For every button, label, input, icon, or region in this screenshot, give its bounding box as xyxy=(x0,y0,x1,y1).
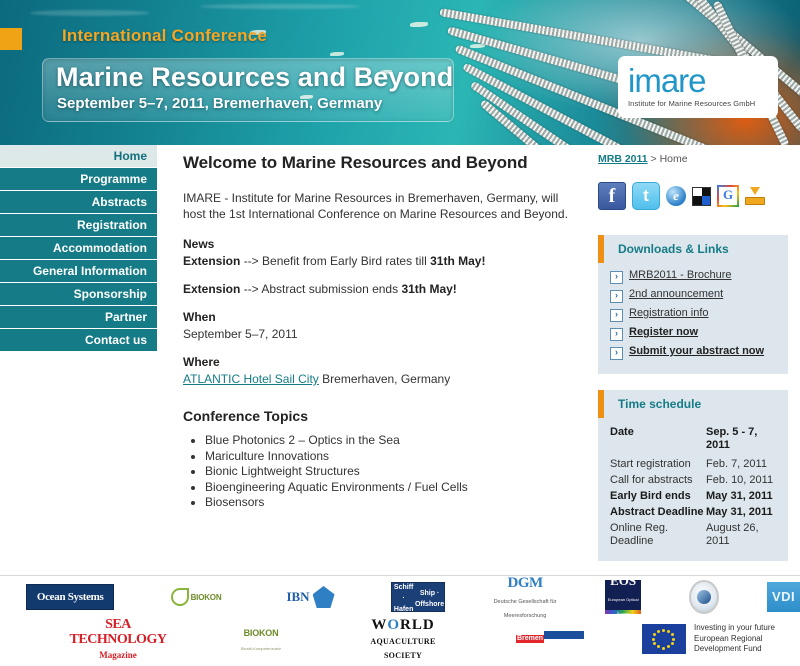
eu-erdf-text: Investing in your future European Region… xyxy=(694,623,775,655)
topic-item: Blue Photonics 2 – Optics in the Sea xyxy=(205,433,575,449)
download-link-label[interactable]: MRB2011 - Brochure xyxy=(629,269,732,282)
fish-shape xyxy=(330,52,344,56)
was-line2: AQUACULTURE xyxy=(370,637,435,646)
chevron-right-icon: › xyxy=(610,309,623,322)
was-line3: SOCIETY xyxy=(384,651,422,660)
downloads-panel: Downloads & Links ›MRB2011 - Brochure›2n… xyxy=(598,235,788,374)
schedule-row-label: Abstract Deadline xyxy=(610,506,706,519)
eu-star xyxy=(671,633,674,636)
download-link-item[interactable]: ›MRB2011 - Brochure xyxy=(610,269,778,284)
eu-star xyxy=(667,645,670,648)
sponsor-footer: Ocean Systems BIOKON IBN Schiff · Hafen … xyxy=(0,575,800,666)
imare-logo-tagline: Institute for Marine Resources GmbH xyxy=(628,99,778,108)
time-schedule-title: Time schedule xyxy=(598,390,788,418)
topics-heading: Conference Topics xyxy=(183,408,575,424)
schedule-row: Start registrationFeb. 7, 2011 xyxy=(610,458,778,471)
spacer xyxy=(183,298,575,309)
bremen-text: Bremen xyxy=(516,635,544,643)
was-rld: RLD xyxy=(400,617,435,633)
eu-erdf-logo[interactable]: Investing in your future European Region… xyxy=(642,623,775,655)
eu-line2: European Regional xyxy=(694,634,763,643)
banner-accent-square xyxy=(0,28,22,50)
where-label: Where xyxy=(183,354,575,371)
venue-link[interactable]: ATLANTIC Hotel Sail City xyxy=(183,372,319,386)
download-link-label[interactable]: Submit your abstract now xyxy=(629,345,764,358)
sidebar-item-contact-us[interactable]: Contact us xyxy=(0,329,157,352)
eu-star xyxy=(652,638,655,641)
eu-star xyxy=(653,633,656,636)
schedule-row-value: May 31, 2011 xyxy=(706,506,778,519)
spacer xyxy=(183,270,575,281)
ocean-systems-logo[interactable]: Ocean Systems xyxy=(26,584,114,610)
sponsor-row-2: SEA TECHNOLOGY Magazine BIOKON Bionik-Ko… xyxy=(0,618,800,660)
sidebar-item-home[interactable]: Home xyxy=(0,145,157,168)
news-2-bold: Extension xyxy=(183,282,240,296)
was-o: O xyxy=(387,617,400,633)
news-2-mid: --> Abstract submission ends xyxy=(240,282,401,296)
eu-star xyxy=(662,629,665,632)
header-banner: International Conference Marine Resource… xyxy=(0,0,800,145)
download-link-item[interactable]: ›2nd announcement xyxy=(610,288,778,303)
vdi-logo[interactable]: VDI xyxy=(767,582,800,612)
biokon-international-logo[interactable]: BIOKON xyxy=(162,587,229,607)
sidebar-navigation: HomeProgrammeAbstractsRegistrationAccomm… xyxy=(0,145,157,352)
schedule-row-label: Call for abstracts xyxy=(610,474,706,487)
schedule-row-label: Start registration xyxy=(610,458,706,471)
download-icon[interactable] xyxy=(745,187,765,205)
seal-logo[interactable] xyxy=(689,580,719,614)
bremen-logo[interactable]: Bremen Bremerhaven xyxy=(516,624,584,654)
light-streak xyxy=(200,4,360,9)
was-line1: WORLD xyxy=(371,617,434,633)
spacer xyxy=(183,343,575,354)
download-link-label[interactable]: Register now xyxy=(629,326,698,339)
light-streak xyxy=(30,10,150,16)
time-schedule-table: DateSep. 5 - 7, 2011Start registrationFe… xyxy=(598,418,788,548)
when-label: When xyxy=(183,309,575,326)
ibn-text: IBN xyxy=(286,589,309,605)
where-rest: Bremerhaven, Germany xyxy=(319,372,450,386)
dgm-text: DGM xyxy=(507,575,542,591)
sea-technology-text: SEA TECHNOLOGY xyxy=(70,617,167,647)
news-2-end: 31th May! xyxy=(401,282,456,296)
breadcrumb: MRB 2011 > Home xyxy=(598,153,788,165)
mister-wong-icon[interactable] xyxy=(692,187,711,206)
breadcrumb-current: > Home xyxy=(651,153,688,165)
schedule-row-value: Feb. 7, 2011 xyxy=(706,458,778,471)
google-bookmarks-icon[interactable]: G xyxy=(717,185,739,207)
eu-star xyxy=(662,647,665,650)
eu-flag-icon xyxy=(642,624,686,654)
right-column: MRB 2011 > Home f t e G Downloads & Link… xyxy=(598,153,788,577)
bremerhaven-text: Bremerhaven xyxy=(546,640,576,646)
news-item-2: Extension --> Abstract submission ends 3… xyxy=(183,281,575,298)
eos-subtext: European Optical Society xyxy=(608,597,639,616)
topic-item: Mariculture Innovations xyxy=(205,449,575,465)
chevron-right-icon: › xyxy=(610,290,623,303)
eu-star xyxy=(667,630,670,633)
intro-paragraph: IMARE - Institute for Marine Resources i… xyxy=(183,190,575,222)
news-item-1: Extension --> Benefit from Early Bird ra… xyxy=(183,253,575,270)
page-content: HomeProgrammeAbstractsRegistrationAccomm… xyxy=(0,145,800,575)
topic-item: Bionic Lightweight Structures xyxy=(205,464,575,480)
topic-item: Bioengineering Aquatic Environments / Fu… xyxy=(205,480,575,496)
page-title: Welcome to Marine Resources and Beyond xyxy=(183,153,575,173)
sea-technology-sub: Magazine xyxy=(99,650,137,660)
schedule-row-value: Feb. 10, 2011 xyxy=(706,474,778,487)
globe-icon xyxy=(697,590,711,604)
fish-shape xyxy=(410,22,428,27)
sidebar-item-sponsorship[interactable]: Sponsorship xyxy=(0,283,157,306)
sidebar-item-accommodation[interactable]: Accommodation xyxy=(0,237,157,260)
social-share-bar: f t e G xyxy=(598,179,788,213)
eu-line1: Investing in your future xyxy=(694,623,775,632)
schedule-row: Abstract DeadlineMay 31, 2011 xyxy=(610,506,778,519)
twitter-icon[interactable]: t xyxy=(632,182,660,210)
schedule-row-label: Online Reg. Deadline xyxy=(610,522,706,548)
schiff-hafen-line2: Ship · Offshore xyxy=(415,588,444,610)
topic-item: Biosensors xyxy=(205,495,575,511)
was-w: W xyxy=(371,617,387,633)
news-1-end: 31th May! xyxy=(430,254,485,268)
news-1-bold: Extension xyxy=(183,254,240,268)
sidebar-item-general-information[interactable]: General Information xyxy=(0,260,157,283)
eu-star xyxy=(657,630,660,633)
when-value: September 5–7, 2011 xyxy=(183,326,575,343)
eos-text: EOS xyxy=(610,573,636,588)
sea-technology-logo[interactable]: SEA TECHNOLOGY Magazine xyxy=(62,617,174,661)
sidebar-item-programme[interactable]: Programme xyxy=(0,168,157,191)
schedule-row-value: May 31, 2011 xyxy=(706,490,778,503)
download-link-item[interactable]: ›Registration info xyxy=(610,307,778,322)
conference-topics-list: Blue Photonics 2 – Optics in the SeaMari… xyxy=(183,433,575,511)
ibn-logo[interactable]: IBN xyxy=(278,581,344,613)
banner-subtitle: September 5–7, 2011, Bremerhaven, German… xyxy=(57,95,382,112)
schiff-hafen-line1: Schiff · Hafen xyxy=(392,582,415,615)
eu-star xyxy=(653,642,656,645)
eos-logo[interactable]: EOS European Optical Society xyxy=(605,580,641,614)
news-label: News xyxy=(183,236,575,253)
download-link-label[interactable]: Registration info xyxy=(629,307,709,320)
sidebar-item-partner[interactable]: Partner xyxy=(0,306,157,329)
leaf-icon xyxy=(171,588,189,606)
schedule-row: Early Bird endsMay 31, 2011 xyxy=(610,490,778,503)
download-link-label[interactable]: 2nd announcement xyxy=(629,288,723,301)
schedule-row-value: Sep. 5 - 7, 2011 xyxy=(706,426,778,452)
banner-kicker: International Conference xyxy=(62,26,267,46)
time-schedule-panel: Time schedule DateSep. 5 - 7, 2011Start … xyxy=(598,390,788,561)
main-column: Welcome to Marine Resources and Beyond I… xyxy=(183,153,575,511)
chevron-right-icon: › xyxy=(610,328,623,341)
sidebar-item-abstracts[interactable]: Abstracts xyxy=(0,191,157,214)
eu-star xyxy=(672,638,675,641)
downloads-panel-title: Downloads & Links xyxy=(598,235,788,263)
sidebar-item-registration[interactable]: Registration xyxy=(0,214,157,237)
facebook-icon[interactable]: f xyxy=(598,182,626,210)
schedule-row: DateSep. 5 - 7, 2011 xyxy=(610,426,778,452)
pentagon-icon xyxy=(313,586,335,608)
schedule-row: Online Reg. DeadlineAugust 26, 2011 xyxy=(610,522,778,548)
dgm-subtext: Deutsche Gesellschaft für Meeresforschun… xyxy=(494,599,557,619)
conference-homepage: International Conference Marine Resource… xyxy=(0,0,800,665)
schedule-row-label: Early Bird ends xyxy=(610,490,706,503)
breadcrumb-link-mrb2011[interactable]: MRB 2011 xyxy=(598,153,648,165)
world-aquaculture-society-logo[interactable]: WORLD AQUACULTURE SOCIETY xyxy=(348,617,458,661)
sponsor-row-1: Ocean Systems BIOKON IBN Schiff · Hafen … xyxy=(0,576,800,618)
schiff-hafen-logo[interactable]: Schiff · Hafen Ship · Offshore xyxy=(391,582,445,612)
eu-line3: Development Fund xyxy=(694,644,762,653)
news-1-mid: --> Benefit from Early Bird rates till xyxy=(240,254,430,268)
biokon-sub: Bionik-Kompetenznetz xyxy=(241,646,281,651)
download-link-item[interactable]: ›Submit your abstract now xyxy=(610,345,778,360)
chevron-right-icon: › xyxy=(610,347,623,360)
biokon-logo[interactable]: BIOKON Bionik-Kompetenznetz xyxy=(232,629,290,649)
imare-logo-word: imare xyxy=(628,66,778,96)
biokon-international-text: BIOKON xyxy=(191,593,222,602)
eu-star xyxy=(671,642,674,645)
schedule-row-value: August 26, 2011 xyxy=(706,522,778,548)
imare-logo[interactable]: imare Institute for Marine Resources Gmb… xyxy=(618,56,778,118)
schedule-row: Call for abstractsFeb. 10, 2011 xyxy=(610,474,778,487)
schedule-row-label: Date xyxy=(610,426,706,452)
eu-star xyxy=(657,645,660,648)
banner-title: Marine Resources and Beyond xyxy=(56,62,453,93)
chevron-right-icon: › xyxy=(610,271,623,284)
internet-explorer-icon[interactable]: e xyxy=(666,186,686,206)
dgm-logo[interactable]: DGM Deutsche Gesellschaft für Meeresfors… xyxy=(493,582,557,612)
download-link-item[interactable]: ›Register now xyxy=(610,326,778,341)
downloads-list: ›MRB2011 - Brochure›2nd announcement›Reg… xyxy=(598,263,788,360)
where-value: ATLANTIC Hotel Sail City Bremerhaven, Ge… xyxy=(183,371,575,388)
biokon-text: BIOKON xyxy=(244,628,279,638)
